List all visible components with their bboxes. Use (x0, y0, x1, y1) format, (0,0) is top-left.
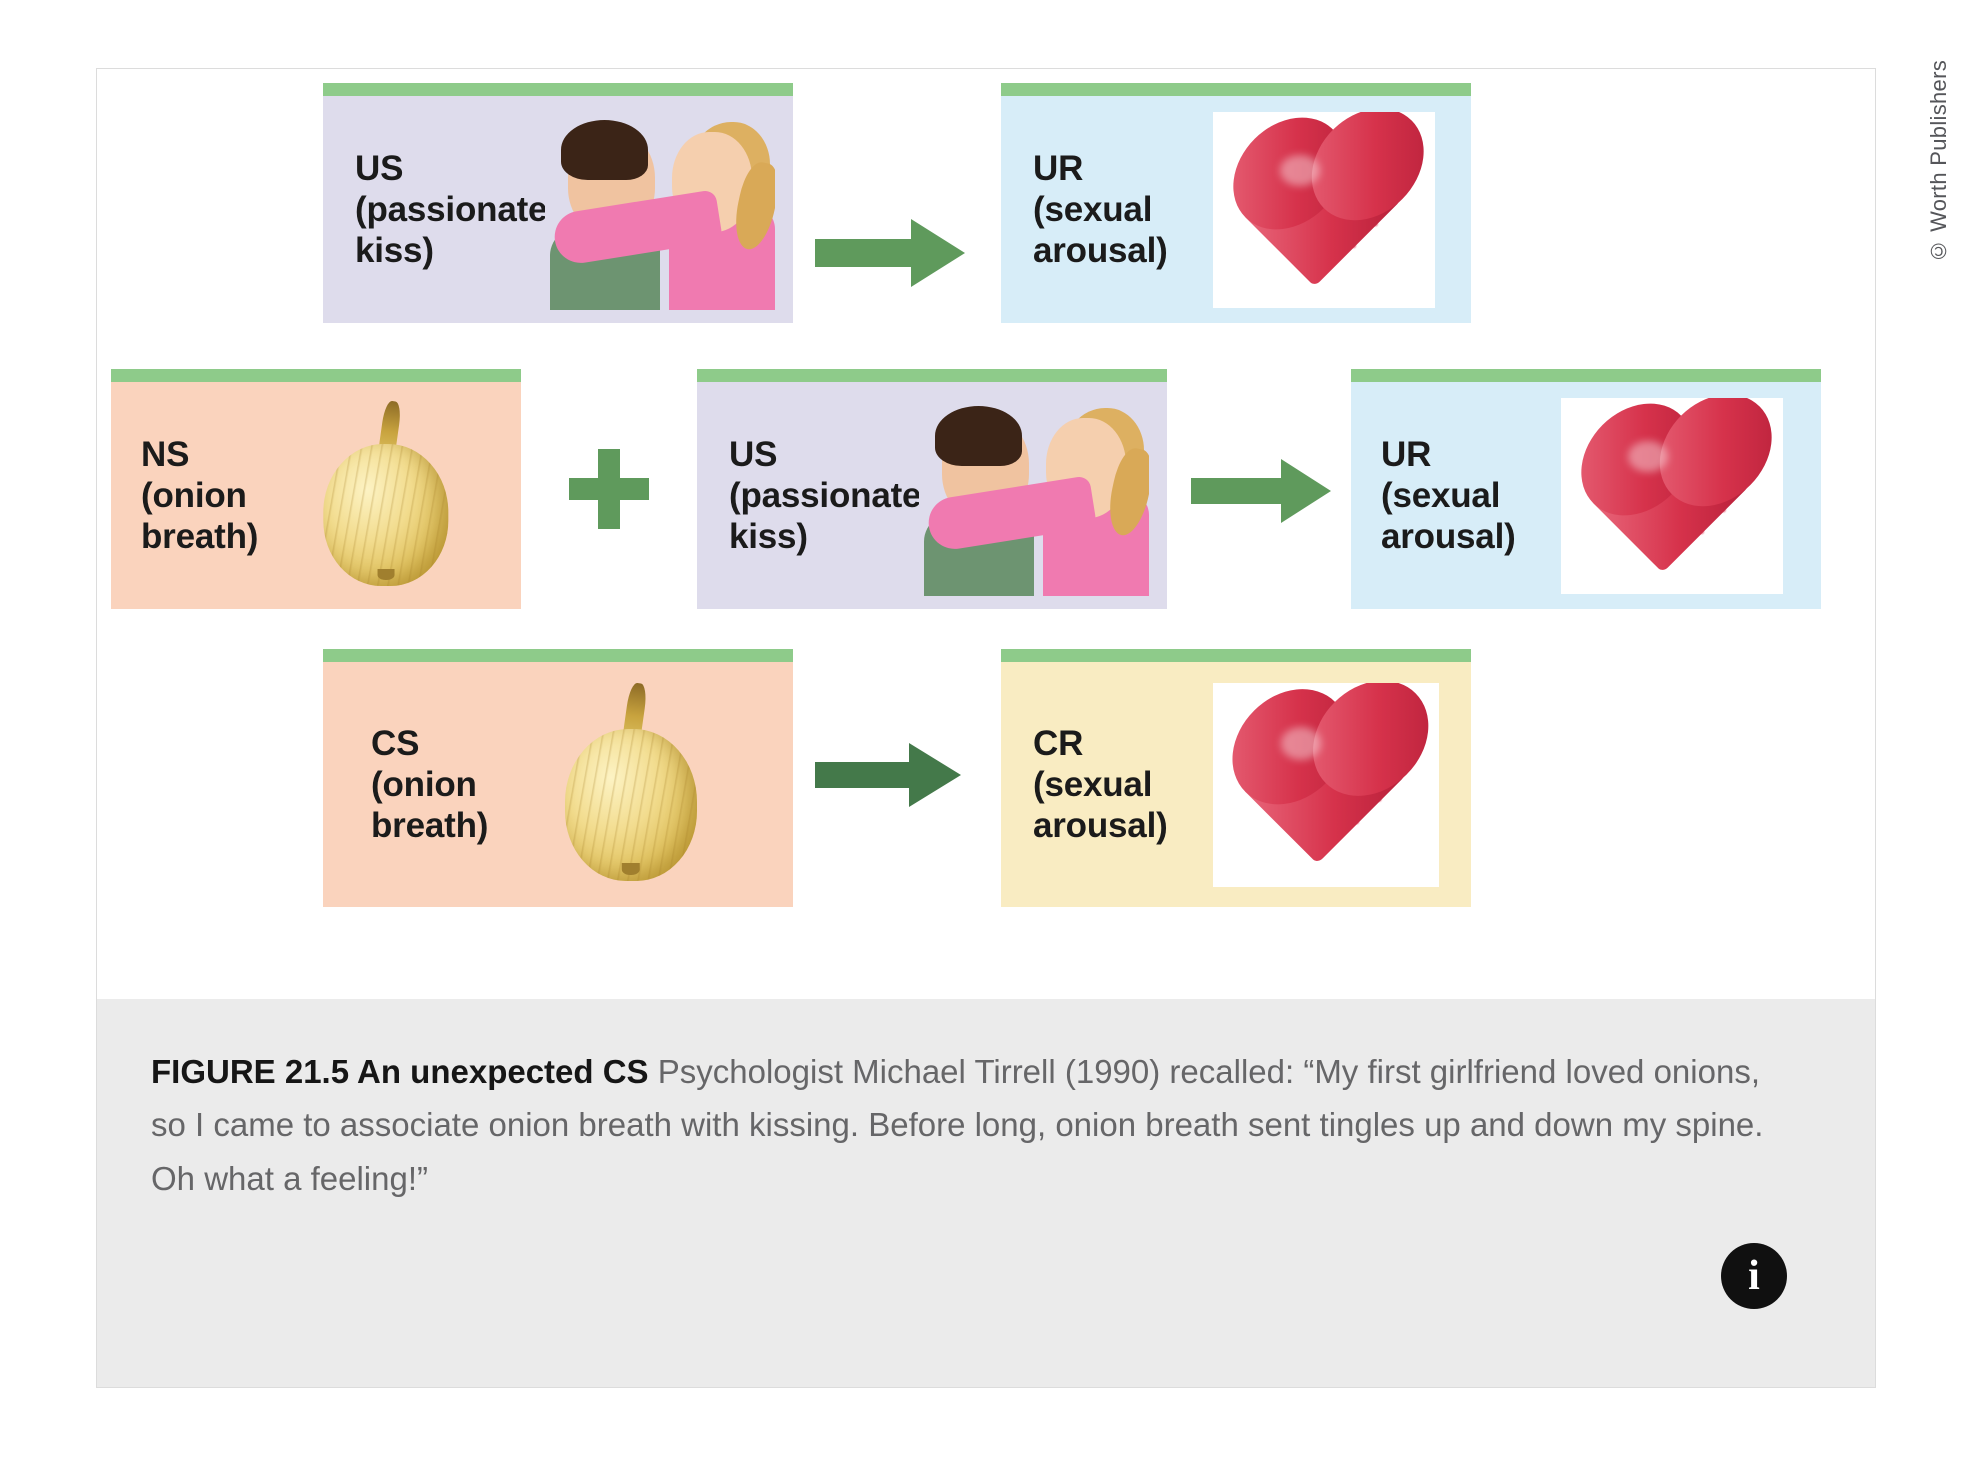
arrow-right-row1 (815, 217, 965, 289)
panel-ur-row1: UR (sexual arousal) (1001, 83, 1471, 323)
panel-topbar-green (323, 83, 793, 96)
info-icon[interactable]: i (1721, 1243, 1787, 1309)
heart-shape (1245, 129, 1402, 286)
heart-shape (1593, 415, 1750, 572)
panel-body: CR (sexual arousal) (1001, 662, 1471, 907)
panel-label-cr: CR (sexual arousal) (1033, 723, 1213, 847)
heart-art (1213, 683, 1439, 887)
heart-illustration (1213, 112, 1435, 308)
caption-band: FIGURE 21.5 An unexpected CS Psychologis… (97, 999, 1875, 1387)
panel-label-us: US (passionate kiss) (729, 434, 919, 558)
panel-topbar-green (1351, 369, 1821, 382)
kiss-art (919, 396, 1149, 596)
onion-illustration (291, 388, 481, 603)
plus-sign-row2 (569, 449, 649, 529)
panel-body: UR (sexual arousal) (1001, 96, 1471, 323)
panel-body: UR (sexual arousal) (1351, 382, 1821, 609)
kiss-art (545, 110, 775, 310)
figure-frame: US (passionate kiss) (96, 68, 1876, 1388)
onion-root (622, 863, 640, 875)
onion-bulb (565, 729, 697, 881)
heart-highlight (1628, 441, 1668, 472)
panel-label-ns: NS (onion breath) (141, 434, 291, 558)
panel-topbar-green (111, 369, 521, 382)
onion-art (291, 388, 481, 603)
heart-highlight (1281, 727, 1322, 760)
arrow-right-row2 (1191, 457, 1331, 525)
diagram-area: US (passionate kiss) (97, 69, 1875, 999)
panel-body: US (passionate kiss) (697, 382, 1167, 609)
panel-label-cs: CS (onion breath) (371, 723, 531, 847)
panel-cs-row3: CS (onion breath) (323, 649, 793, 907)
panel-topbar-green (323, 649, 793, 662)
panel-cr-row3: CR (sexual arousal) (1001, 649, 1471, 907)
panel-body: CS (onion breath) (323, 662, 793, 907)
onion-art (531, 670, 731, 900)
heart-shape (1245, 702, 1407, 864)
onion-root (377, 569, 395, 580)
kiss-man-hair (561, 120, 648, 180)
plus-vertical-bar (598, 449, 620, 529)
heart-art (1561, 398, 1783, 594)
panel-label-ur: UR (sexual arousal) (1381, 434, 1561, 558)
heart-illustration (1213, 683, 1439, 887)
figure-caption: FIGURE 21.5 An unexpected CS Psychologis… (151, 1045, 1791, 1205)
heart-highlight (1280, 155, 1320, 186)
onion-striations (323, 444, 448, 586)
panel-ns-row2: NS (onion breath) (111, 369, 521, 609)
panel-label-ur: UR (sexual arousal) (1033, 148, 1213, 272)
panel-body: US (passionate kiss) (323, 96, 793, 323)
panel-topbar-green (1001, 649, 1471, 662)
kiss-illustration (545, 110, 775, 310)
onion-striations (565, 729, 697, 881)
caption-lead: FIGURE 21.5 An unexpected CS (151, 1053, 649, 1090)
panel-topbar-green (697, 369, 1167, 382)
panel-topbar-green (1001, 83, 1471, 96)
heart-illustration (1561, 398, 1783, 594)
panel-body: NS (onion breath) (111, 382, 521, 609)
panel-us-row2: US (passionate kiss) (697, 369, 1167, 609)
heart-art (1213, 112, 1435, 308)
onion-illustration (531, 670, 731, 900)
panel-us-row1: US (passionate kiss) (323, 83, 793, 323)
onion-bulb (323, 444, 448, 586)
panel-label-us: US (passionate kiss) (355, 148, 545, 272)
kiss-man-hair (935, 406, 1022, 466)
copyright-notice: © Worth Publishers (1926, 60, 1952, 264)
arrow-right-row3 (815, 741, 961, 809)
panel-ur-row2: UR (sexual arousal) (1351, 369, 1821, 609)
kiss-illustration (919, 396, 1149, 596)
